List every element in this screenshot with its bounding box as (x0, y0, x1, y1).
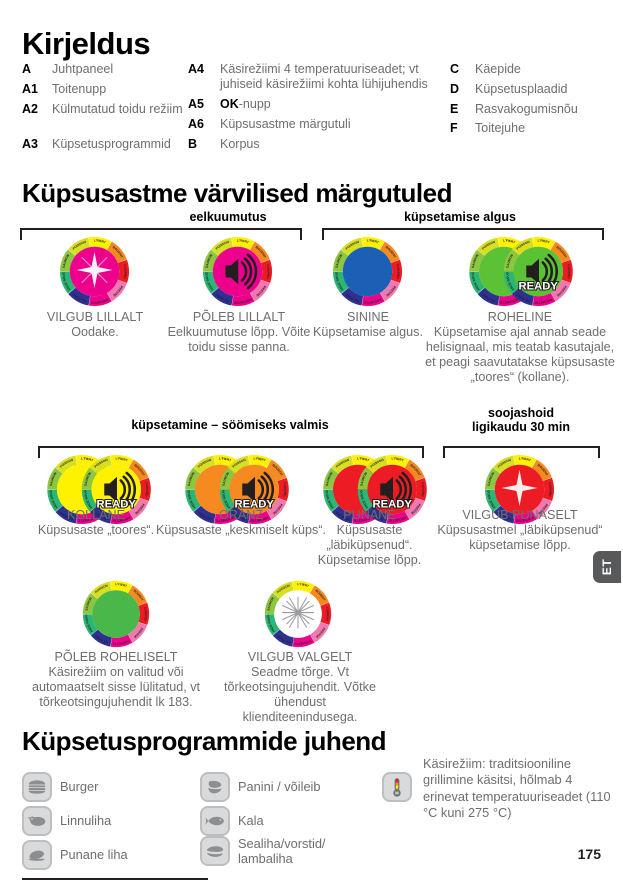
page-number: 175 (578, 846, 601, 862)
caption-text: Eelkuumutuse lõpp. Võite toidu sisse pan… (168, 325, 311, 354)
legend-row: A6Küpsusastme märgutuli (188, 117, 443, 132)
caption-title: ORANŽ (150, 508, 332, 523)
program-item-fish: Kala (200, 806, 264, 836)
legend-value-suffix: -nupp (239, 97, 271, 111)
language-tab-label: ET (600, 559, 614, 575)
legend-row: AJuhtpaneel (22, 62, 197, 77)
legend-value: Toitenupp (52, 82, 106, 97)
footer-rule (22, 878, 208, 880)
legend-row: A2Külmutatud toidu režiim (22, 102, 197, 132)
legend-value: Küpsetusprogrammid (52, 137, 171, 152)
legend-value: Küpsusastme märgutuli (220, 117, 351, 132)
legend-value: Käepide (475, 62, 521, 77)
ok-button-name: OK (220, 97, 239, 111)
indicator-ring-graphic: L'FIERTBOUEFITCANARDPRESSEBROCHETTESDE P… (80, 578, 152, 650)
caption-text: Küpsusaste „keskmiselt küps“. (156, 523, 326, 537)
caption-text: Käsirežiim on valitud või automaatselt s… (32, 665, 200, 709)
caption-red: PUNANE Küpsusaste „läbiküpsenud“. Küpset… (312, 508, 427, 568)
legend-key: A6 (188, 117, 220, 132)
program-label: Linnuliha (60, 813, 111, 828)
program-label: Panini / võileib (238, 779, 321, 794)
program-item-pork: Sealiha/vorstid/ lambaliha (200, 836, 368, 866)
svg-text:M: M (395, 791, 399, 796)
manual-mode-description: Käsirežiim: traditsiooniline grillimine … (423, 756, 619, 822)
caption-text: Küpsusaste „läbiküpsenud“. Küpsetamise l… (318, 523, 422, 567)
caption-title: ROHELINE (425, 310, 615, 325)
legend-key: F (450, 121, 475, 136)
legend-value: OK-nupp (220, 97, 271, 112)
indicator-light-blink-purple: L'FIERTBOUEFITCANARDPRESSEBROCHETTESDE P… (57, 234, 132, 309)
caption-orange: ORANŽ Küpsusaste „keskmiselt küps“. (150, 508, 332, 538)
caption-solid-purple: PÕLEB LILLALT Eelkuumutuse lõpp. Võite t… (163, 310, 315, 355)
page-title-indicator-lights: Küpsusastme värvilised märgutuled (22, 178, 452, 209)
legend-value: Toitejuhe (475, 121, 525, 136)
thermometer-icon: M (382, 772, 412, 802)
legend-key: A1 (22, 82, 52, 97)
legend-key: A2 (22, 102, 52, 117)
program-item-burger: Burger (22, 772, 98, 802)
caption-blue: SININE Küpsetamise algus. (312, 310, 424, 340)
caption-title: SININE (312, 310, 424, 325)
indicator-ring-graphic: L'FIERTBOUEFITCANARDPRESSEBROCHETTESDE P… (262, 578, 334, 650)
legend-key: A5 (188, 97, 220, 112)
legend-row: A3Küpsetusprogrammid (22, 137, 197, 152)
ready-badge-text: READY (519, 281, 559, 293)
indicator-light-blue: L'FIERTBOUEFITCANARDPRESSEBROCHETTESDE P… (330, 234, 405, 309)
page-title-programs: Küpsetusprogrammide juhend (22, 726, 386, 757)
caption-title: VILGUB LILLALT (20, 310, 170, 325)
manual-page: Kirjeldus AJuhtpaneel A1Toitenupp A2Külm… (0, 0, 623, 884)
legend-row: BKorpus (188, 137, 443, 152)
legend-value: Rasvakogumisnõu (475, 102, 578, 117)
legend-row: DKüpsetusplaadid (450, 82, 620, 97)
caption-text: Küpsetamise ajal annab seade helisignaal… (425, 325, 615, 384)
legend-row: A5OK-nupp (188, 97, 443, 112)
program-label: Kala (238, 813, 264, 828)
caption-title: PUNANE (312, 508, 427, 523)
caption-title: VILGUB VALGELT (216, 650, 384, 665)
caption-blink-purple: VILGUB LILLALT Oodake. (20, 310, 170, 340)
parts-legend-column-2: A4Käsirežiimi 4 temperatuuriseadet; vt j… (188, 62, 443, 156)
indicator-light-green: L'FIERTBOUEFITCANARDPRESSEBROCHETTESDE P… (466, 234, 576, 309)
caption-solid-green: PÕLEB ROHELISELT Käsirežiim on valitud v… (14, 650, 218, 710)
legend-row: A4Käsirežiimi 4 temperatuuriseadet; vt j… (188, 62, 443, 92)
group-label-cooking-ready: küpsetamine – söömiseks valmis (60, 418, 400, 432)
legend-value: Korpus (220, 137, 260, 152)
caption-text: Küpsetamise algus. (313, 325, 423, 339)
panini-icon (200, 772, 230, 802)
caption-title: VILGUB PUNASELT (420, 508, 620, 523)
parts-legend-column-3: CKäepide DKüpsetusplaadid ERasvakogumisn… (450, 62, 620, 141)
program-item-red-meat: Punane liha (22, 840, 128, 870)
indicator-ring-graphic: L'FIERTBOUEFITCANARDPRESSEBROCHETTESDE P… (330, 234, 405, 309)
program-item-manual: M (382, 772, 412, 802)
group-label-preheat: eelkuumutus (108, 210, 348, 224)
caption-blink-red: VILGUB PUNASELT Küpsusastmel „läbiküpsen… (420, 508, 620, 553)
caption-blink-white: VILGUB VALGELT Seadme tõrge. Vt tõrkeots… (216, 650, 384, 726)
indicator-ring-graphic: L'FIERTBOUEFITCANARDPRESSEBROCHETTESDE P… (466, 234, 576, 309)
legend-value: Käsirežiimi 4 temperatuuriseadet; vt juh… (220, 62, 443, 92)
program-label: Burger (60, 779, 98, 794)
caption-text: Oodake. (71, 325, 119, 339)
burger-icon (22, 772, 52, 802)
program-label: Punane liha (60, 847, 128, 862)
program-item-poultry: Linnuliha (22, 806, 111, 836)
indicator-ring-graphic: L'FIERTBOUEFITCANARDPRESSEBROCHETTESDE P… (200, 234, 275, 309)
poultry-icon (22, 806, 52, 836)
legend-key: C (450, 62, 475, 77)
pork-icon (200, 836, 230, 866)
language-tab-et: ET (593, 551, 621, 583)
legend-value: Külmutatud toidu režiim (52, 102, 183, 117)
group-label-keep-warm: soojashoid ligikaudu 30 min (426, 406, 616, 435)
program-item-panini: Panini / võileib (200, 772, 321, 802)
legend-row: FToitejuhe (450, 121, 620, 136)
legend-row: CKäepide (450, 62, 620, 77)
caption-text: Küpsusaste „toores“. (38, 523, 154, 537)
red-meat-icon (22, 840, 52, 870)
parts-legend-column-1: AJuhtpaneel A1Toitenupp A2Külmutatud toi… (22, 62, 197, 156)
caption-text: Küpsusastmel „läbiküpsenud“ küpsetamise … (437, 523, 602, 552)
caption-title: PÕLEB ROHELISELT (14, 650, 218, 665)
caption-text: Seadme tõrge. Vt tõrkeotsingujuhendit. V… (224, 665, 376, 724)
fish-icon (200, 806, 230, 836)
legend-key: D (450, 82, 475, 97)
program-label: Sealiha/vorstid/ lambaliha (238, 836, 368, 866)
legend-key: E (450, 102, 475, 117)
group-label-cooking-start: küpsetamise algus (320, 210, 600, 224)
legend-key: A (22, 62, 52, 77)
legend-value: Küpsetusplaadid (475, 82, 567, 97)
legend-key: B (188, 137, 220, 152)
legend-row: ERasvakogumisnõu (450, 102, 620, 117)
page-title-description: Kirjeldus (22, 26, 150, 62)
starburst-icon (282, 597, 314, 629)
legend-row: A1Toitenupp (22, 82, 197, 97)
legend-value: Juhtpaneel (52, 62, 113, 77)
caption-title: PÕLEB LILLALT (163, 310, 315, 325)
indicator-light-solid-green: L'FIERTBOUEFITCANARDPRESSEBROCHETTESDE P… (80, 578, 152, 650)
caption-green: ROHELINE Küpsetamise ajal annab seade he… (425, 310, 615, 386)
indicator-light-blink-white: L'FIERTBOUEFITCANARDPRESSEBROCHETTESDE P… (262, 578, 334, 650)
legend-key: A3 (22, 137, 52, 152)
indicator-ring-graphic: L'FIERTBOUEFITCANARDPRESSEBROCHETTESDE P… (57, 234, 132, 309)
indicator-light-solid-purple: L'FIERTBOUEFITCANARDPRESSEBROCHETTESDE P… (200, 234, 275, 309)
legend-key: A4 (188, 62, 220, 77)
